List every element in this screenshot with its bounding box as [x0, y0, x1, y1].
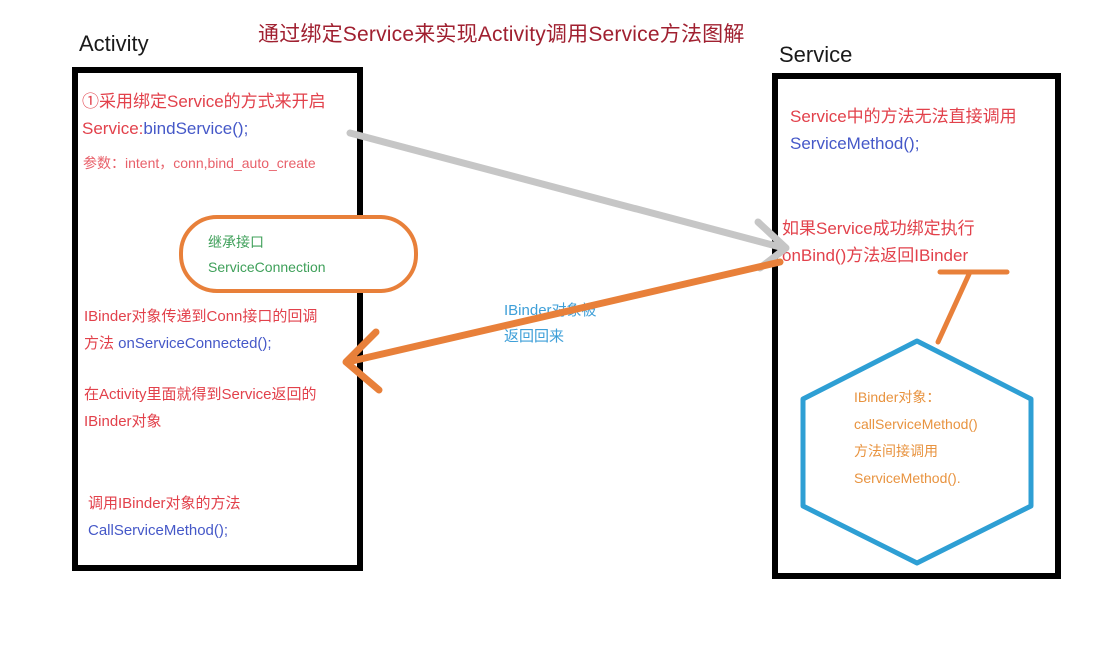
page-title: 通过绑定Service来实现Activity调用Service方法图解	[258, 18, 745, 48]
serviceconnection-callout-text: 继承接口 ServiceConnection	[208, 230, 326, 280]
onserviceconnected-note-line1: IBinder对象传递到Conn接口的回调	[84, 303, 317, 330]
call-service-method-note: 调用IBinder对象的方法 CallServiceMethod();	[88, 490, 241, 544]
ibinder-hexagon-line1: IBinder对象：	[854, 384, 978, 411]
service-column-label: Service	[779, 42, 852, 68]
bind-service-note-line1: ①采用绑定Service的方式来开启	[82, 88, 326, 115]
onbind-note-line2: onBind()方法返回IBinder	[782, 242, 975, 269]
ibinder-returned-label-line1: IBinder对象被	[504, 298, 597, 324]
serviceconnection-callout: 继承接口 ServiceConnection	[179, 215, 418, 293]
cannot-call-note-line2: ServiceMethod();	[790, 130, 1017, 157]
bind-service-note-line2-call: bindService();	[143, 119, 248, 138]
bind-service-note-line2-prefix: Service:	[82, 119, 143, 138]
got-ibinder-note-line2: IBinder对象	[84, 408, 317, 435]
activity-column-label: Activity	[79, 31, 149, 57]
ibinder-hexagon-text: IBinder对象： callServiceMethod() 方法间接调用 Se…	[854, 384, 978, 492]
got-ibinder-note: 在Activity里面就得到Service返回的 IBinder对象	[84, 381, 317, 435]
ibinder-hexagon-line4: ServiceMethod().	[854, 465, 978, 492]
serviceconnection-callout-line1: 继承接口	[208, 230, 326, 255]
onserviceconnected-note-line2-call: onServiceConnected();	[118, 335, 271, 352]
cannot-call-note: Service中的方法无法直接调用 ServiceMethod();	[790, 103, 1017, 157]
ibinder-returned-label: IBinder对象被 返回回来	[504, 298, 597, 350]
call-service-method-note-line2: CallServiceMethod();	[88, 517, 241, 544]
ibinder-hexagon-line2: callServiceMethod()	[854, 411, 978, 438]
bind-service-note: ①采用绑定Service的方式来开启 Service:bindService()…	[82, 88, 326, 142]
diagram-canvas: 通过绑定Service来实现Activity调用Service方法图解 Acti…	[0, 0, 1106, 648]
cannot-call-note-line1: Service中的方法无法直接调用	[790, 103, 1017, 130]
onbind-note: 如果Service成功绑定执行 onBind()方法返回IBinder	[782, 215, 975, 269]
onserviceconnected-note: IBinder对象传递到Conn接口的回调 方法 onServiceConnec…	[84, 303, 317, 357]
call-service-method-note-line1: 调用IBinder对象的方法	[88, 490, 241, 517]
got-ibinder-note-line1: 在Activity里面就得到Service返回的	[84, 381, 317, 408]
onbind-note-line1: 如果Service成功绑定执行	[782, 215, 975, 242]
ibinder-hexagon-line3: 方法间接调用	[854, 438, 978, 465]
serviceconnection-callout-line2: ServiceConnection	[208, 255, 326, 280]
ibinder-hexagon: IBinder对象： callServiceMethod() 方法间接调用 Se…	[798, 336, 1036, 568]
ibinder-returned-label-line2: 返回回来	[504, 324, 597, 350]
bind-params-note: 参数：intent，conn,bind_auto_create	[83, 150, 316, 177]
onserviceconnected-note-line2-prefix: 方法	[84, 335, 118, 352]
